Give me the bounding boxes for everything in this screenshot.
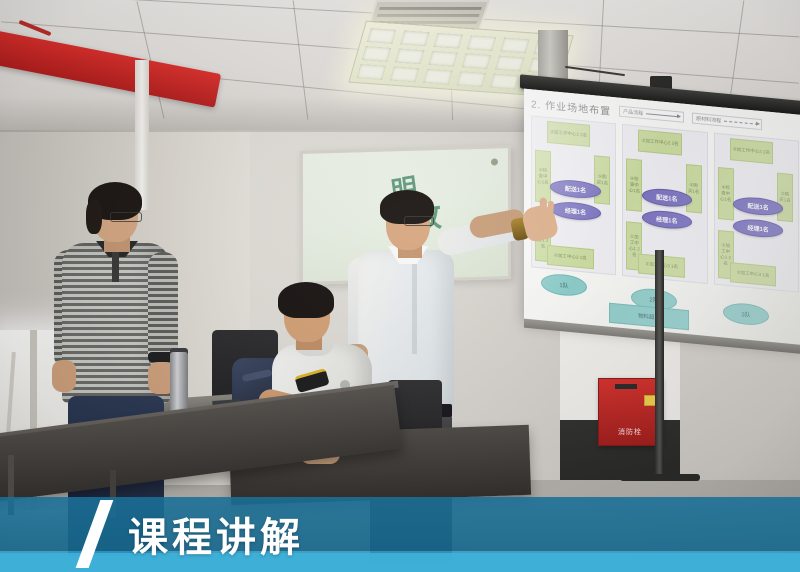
roller-blind <box>135 60 149 210</box>
role-delivery: 配送1名 <box>642 187 692 209</box>
legend-label-product: 产品流程 <box>623 108 643 117</box>
person-a-hair-side <box>86 200 102 234</box>
screen-stand-pole <box>655 250 664 480</box>
solid-arrow-icon <box>646 113 680 117</box>
inspection-box: ④检查中心1名 <box>535 150 551 204</box>
layout-column: ③加工作中心2 2名 ④检查中心1名 ⑤购买1名 ①加工中心1 2名 ②加工中心… <box>714 133 799 293</box>
role-manager: 经理1名 <box>550 200 600 222</box>
person-a-placket <box>112 252 119 282</box>
classroom-photo: 明 放 消防栓 2. 作业场地布置 产品流程 原材料流程 <box>0 0 800 572</box>
role-manager: 经理1名 <box>642 209 692 231</box>
person-c-hair <box>278 282 334 318</box>
caption-title: 课程讲解 <box>128 505 304 563</box>
person-b-shirt-placket <box>412 258 417 354</box>
role-delivery: 配送1名 <box>733 195 783 217</box>
work-center-3-box: ②加工中心3 1名 <box>730 262 777 286</box>
banner-bottom-strip <box>0 553 800 572</box>
work-center-box: ③加工作中心2 2名 <box>730 138 773 164</box>
role-delivery: 配送1名 <box>550 178 600 200</box>
purchase-box: ⑤购买1名 <box>594 155 610 205</box>
cabinet-vent <box>615 384 637 389</box>
thermos-flask <box>170 352 188 412</box>
role-manager: 经理1名 <box>733 217 783 239</box>
inspection-box: ④检查中心1名 <box>626 158 642 212</box>
purchase-box: ⑤购买1名 <box>686 164 702 214</box>
layout-column: ③加工作中心2 2名 ④检查中心1名 ⑤购买1名 ①加工中心1 2名 ②加工中心… <box>622 124 707 284</box>
work-center-box: ③加工作中心2 2名 <box>638 129 681 155</box>
slide-layout-columns: ③加工作中心2 2名 ④检查中心1名 ⑤购买1名 ①加工中心1 2名 ②加工中心… <box>531 115 799 292</box>
person-a-left-hand <box>52 360 76 392</box>
caption-banner: 课程讲解 <box>0 497 800 572</box>
legend-label-material: 原材料流程 <box>696 115 721 124</box>
person-a-glasses <box>110 212 142 222</box>
inspection-box: ④检查中心1名 <box>718 167 734 221</box>
whiteboard-knob <box>491 158 498 165</box>
slide-title: 2. 作业场地布置 <box>531 95 611 118</box>
person-b-glasses <box>404 216 434 226</box>
team-badge: 3队 <box>723 301 769 326</box>
work-center-3-box: ②加工中心3 1名 <box>547 245 594 269</box>
legend-material-flow: 原材料流程 <box>692 113 762 131</box>
purchase-box: ⑤购买1名 <box>777 173 793 223</box>
fire-hydrant-cabinet: 消防栓 <box>598 378 662 446</box>
layout-column: ③加工作中心2 2名 ④检查中心1名 ⑤购买1名 ①加工中心1 2名 ②加工中心… <box>531 115 616 275</box>
dashed-arrow-icon <box>724 121 758 125</box>
legend-product-flow: 产品流程 <box>619 106 684 123</box>
fire-hydrant-label: 消防栓 <box>599 427 661 437</box>
team-badge: 1队 <box>541 272 587 297</box>
backpack-strap <box>242 369 273 382</box>
material-supermarket-box: 物料超市 <box>609 303 689 331</box>
screen-stand-foot <box>620 474 700 481</box>
work-center-box: ③加工作中心2 2名 <box>547 121 590 147</box>
